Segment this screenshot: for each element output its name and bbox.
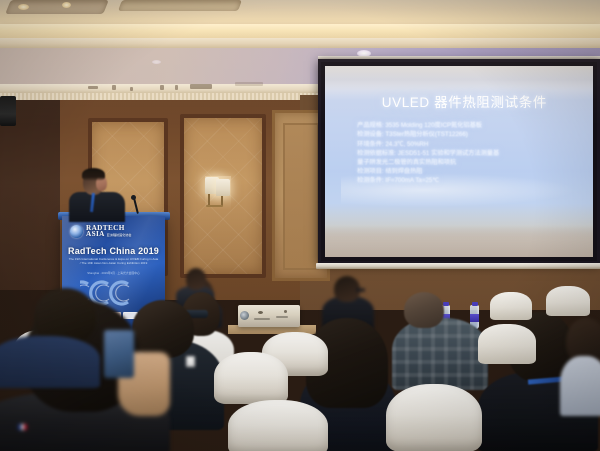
ceiling-vent-mark bbox=[175, 85, 178, 90]
projector-indicator-icon bbox=[284, 310, 287, 313]
lectern-brand-text: RADTECH ASIA 亚洲辐射固化协会 bbox=[86, 225, 132, 239]
screen-surface: UVLED 器件热阻测试条件 产品规格: 3535 Molding 120度IC… bbox=[325, 66, 593, 257]
microphone-head-icon bbox=[131, 195, 136, 200]
projector-vent bbox=[276, 316, 288, 318]
wall-loudspeaker bbox=[0, 96, 16, 126]
bottle-label bbox=[470, 314, 479, 322]
presenter-hair bbox=[82, 168, 105, 181]
brand-asia: ASIA bbox=[86, 231, 105, 238]
slide-line: 检测条件: IF=700mA Ta=25℃ bbox=[357, 176, 582, 185]
recessed-downlight-icon bbox=[152, 60, 161, 64]
chair[interactable] bbox=[214, 352, 288, 404]
ceiling-vent-mark bbox=[235, 82, 263, 86]
ceiling-vent-mark bbox=[88, 86, 98, 89]
ceiling-vent-mark bbox=[160, 85, 164, 90]
slide-line: 检测项目: 结到焊盘热阻 bbox=[357, 167, 582, 176]
ceiling-spotlight-icon bbox=[18, 4, 29, 10]
radtech-seal-icon bbox=[70, 225, 83, 238]
audience-torso bbox=[560, 356, 600, 416]
slide-title: UVLED 器件热阻测试条件 bbox=[349, 91, 579, 111]
ceiling-coffer-mid bbox=[118, 0, 242, 11]
slide-line: 产品规格: 3535 Molding 120度ICP氮化铝基板 bbox=[357, 121, 582, 130]
slide-line: 环境条件: 24.3℃, 50%RH bbox=[357, 140, 582, 149]
lectern-logo: RADTECH ASIA 亚洲辐射固化协会 bbox=[70, 224, 158, 239]
presenter-torso bbox=[69, 192, 125, 222]
chair[interactable] bbox=[490, 292, 532, 320]
slide-line: 量子阱发光二极管的真实热阻和项抗 bbox=[357, 158, 582, 167]
ceiling-vent-mark bbox=[112, 85, 116, 90]
lectern-event-subtitle: The 19th International Conference & Expo… bbox=[68, 257, 159, 265]
lectern-event-date: Shanghai · 2019年3月 · 上海光大会展中心 bbox=[68, 271, 159, 275]
screen-top-falloff bbox=[325, 66, 593, 91]
audience-head bbox=[404, 292, 444, 328]
slide-line: 检测设备: T3Ster热阻分析仪(TST12266) bbox=[357, 130, 582, 139]
flag-patch-icon bbox=[18, 424, 27, 430]
ceiling-vent-mark bbox=[130, 87, 133, 91]
brand-asia-cn: 亚洲辐射固化协会 bbox=[107, 232, 132, 239]
projector-vent bbox=[254, 318, 270, 320]
smartphone-icon[interactable] bbox=[104, 330, 134, 378]
audience-head bbox=[132, 300, 194, 358]
audience-plaid-shirt bbox=[392, 318, 488, 390]
door-leaf[interactable] bbox=[283, 123, 319, 270]
projector bbox=[238, 305, 300, 327]
ceiling-vent-mark bbox=[190, 84, 212, 89]
audience-head bbox=[186, 268, 206, 290]
screen-bottom-weight-bar bbox=[316, 263, 600, 269]
sconce-base bbox=[206, 205, 223, 207]
conference-room-photo: UVLED 器件热阻测试条件 产品规格: 3535 Molding 120度IC… bbox=[0, 0, 600, 451]
lectern-event-title: RadTech China 2019 bbox=[62, 246, 165, 256]
name-badge bbox=[186, 356, 195, 367]
audience-glasses-icon bbox=[356, 288, 365, 292]
audience-torso bbox=[0, 336, 100, 388]
sconce-shade-right-icon bbox=[216, 179, 230, 196]
ceiling-spotlight-icon bbox=[62, 2, 71, 8]
chair[interactable] bbox=[546, 286, 590, 316]
chair[interactable] bbox=[386, 384, 482, 451]
screen-bottom-falloff bbox=[325, 225, 593, 257]
chair[interactable] bbox=[478, 324, 536, 364]
slide-line: 检测依据标准: JESD51-51 实验和学测试方法测量基 bbox=[357, 149, 582, 158]
slide-body: 产品规格: 3535 Molding 120度ICP氮化铝基板 检测设备: T3… bbox=[357, 121, 582, 185]
projection-screen: UVLED 器件热阻测试条件 产品规格: 3535 Molding 120度IC… bbox=[318, 59, 600, 264]
chair[interactable] bbox=[228, 400, 328, 451]
projector-button-icon[interactable] bbox=[258, 311, 263, 314]
projector-lens-icon bbox=[240, 311, 249, 320]
bottle-cap bbox=[472, 302, 478, 306]
